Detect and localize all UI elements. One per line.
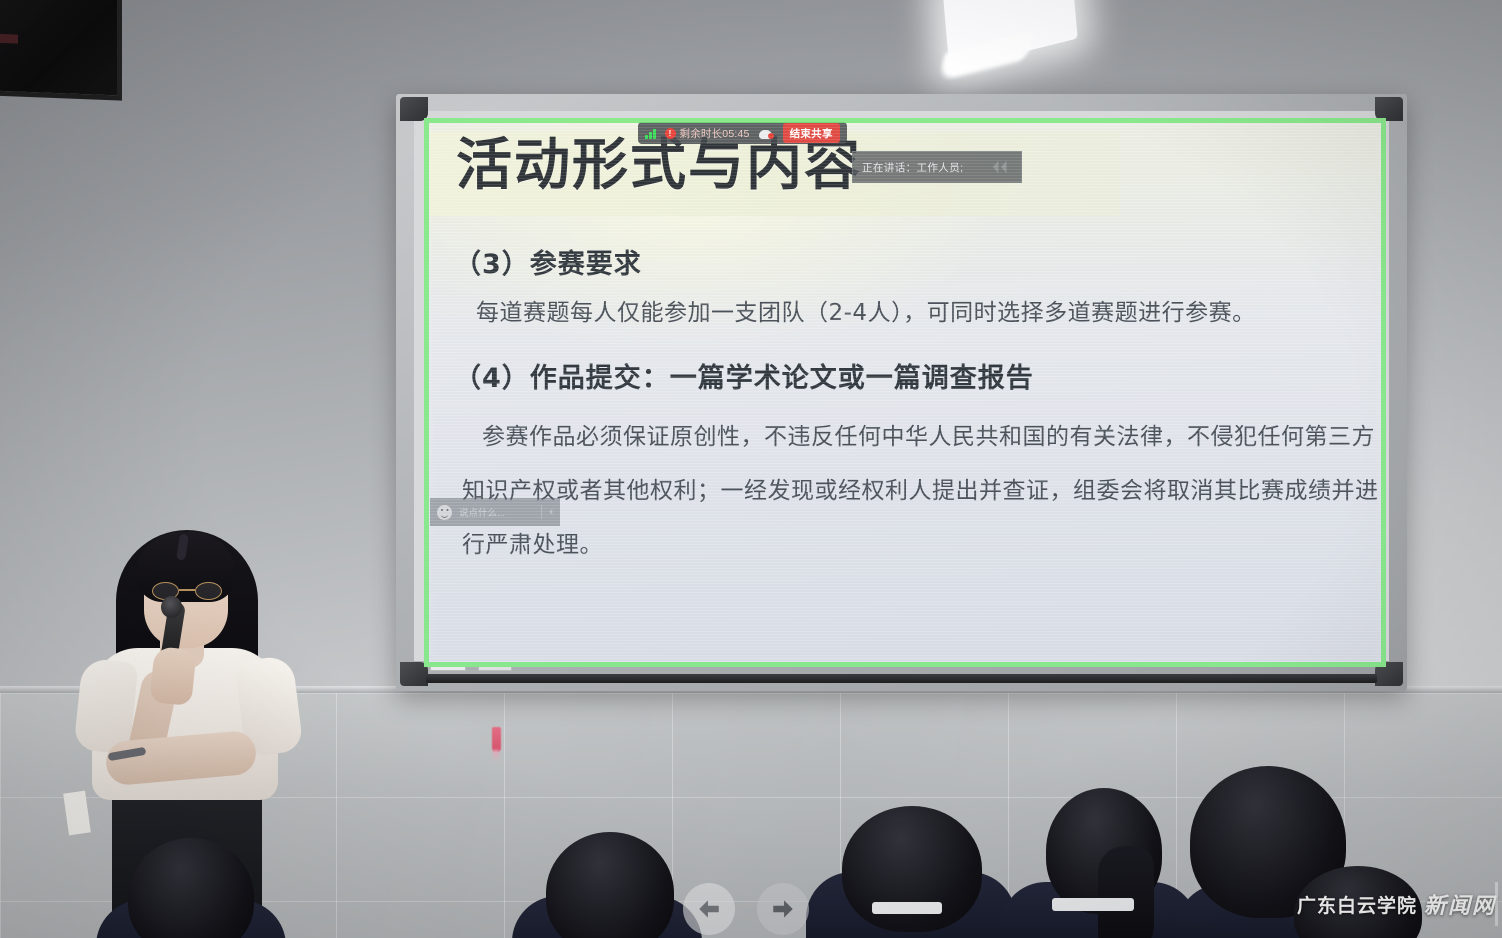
- remaining-time-group: ! 剩余时长05:45: [665, 126, 750, 141]
- chat-input-widget[interactable]: 说点什么... ‹: [430, 498, 560, 526]
- presenter-glasses: [152, 582, 222, 600]
- speaking-indicator: 正在讲话：工作人员;: [852, 151, 1022, 183]
- prev-button[interactable]: [683, 883, 735, 935]
- watermark: 广东白云学院 新闻网: [1297, 888, 1496, 920]
- speaking-indicator-label: 正在讲话：工作人员;: [862, 160, 963, 175]
- watermark-bar: [1495, 882, 1498, 926]
- audience-collar: [872, 902, 942, 914]
- chat-input-placeholder[interactable]: 说点什么...: [459, 505, 534, 519]
- meeting-logo-icon: [991, 158, 1013, 176]
- slide-heading-item3: （3）参赛要求: [454, 242, 642, 281]
- raise-hand-badge: [768, 133, 774, 139]
- info-icon: !: [665, 128, 676, 139]
- slide-paragraph-2-line2: 知识产权或者其他权利；一经发现或经权利人提出并查证，组委会将取消其比赛成绩并进: [462, 480, 1379, 503]
- red-marker: [492, 727, 501, 752]
- wall-panel-label: [0, 34, 18, 44]
- end-share-button[interactable]: 结束共享: [783, 123, 840, 143]
- classroom-scene: 活动形式与内容 （3）参赛要求 每道赛题每人仅能参加一支团队（2-4人），可同时…: [0, 0, 1502, 938]
- audience-collar: [1052, 898, 1134, 911]
- audience-ponytail: [1098, 846, 1154, 938]
- arrow-left-icon: [696, 896, 722, 922]
- signal-bars-icon: [645, 128, 656, 139]
- slide-paragraph-2-line3: 行严肃处理。: [462, 534, 603, 557]
- slide-paragraph-1: 每道赛题每人仅能参加一支团队（2-4人），可同时选择多道赛题进行参赛。: [476, 302, 1256, 325]
- raise-hand-icon[interactable]: [759, 127, 774, 139]
- presenter-paper: [63, 791, 91, 836]
- whiteboard-pen-tray: [426, 674, 1377, 683]
- watermark-outlet: 新闻网: [1424, 888, 1496, 920]
- red-marker-reflection: [493, 750, 499, 762]
- chevron-left-icon[interactable]: ‹: [549, 506, 553, 518]
- watermark-school: 广东白云学院: [1297, 891, 1417, 918]
- chat-divider: [541, 505, 542, 519]
- slide-paragraph-2-line1: 参赛作品必须保证原创性，不违反任何中华人民共和国的有关法律，不侵犯任何第三方: [482, 426, 1375, 449]
- emoji-smile-icon[interactable]: [437, 505, 452, 520]
- remaining-time-label: 剩余时长05:45: [680, 126, 750, 141]
- slide-title: 活动形式与内容: [456, 137, 862, 196]
- arrow-right-icon: [770, 896, 796, 922]
- wall-speaker-panel: [0, 0, 122, 101]
- next-button[interactable]: [757, 883, 809, 935]
- glasses-bridge: [179, 589, 195, 591]
- meeting-toolbar[interactable]: ! 剩余时长05:45 结束共享: [638, 122, 847, 144]
- glasses-lens-right: [195, 582, 222, 600]
- projected-slide-area: 活动形式与内容 （3）参赛要求 每道赛题每人仅能参加一支团队（2-4人），可同时…: [424, 118, 1386, 667]
- presenter-hand: [149, 646, 197, 706]
- slide-heading-item4: （4）作品提交：一篇学术论文或一篇调查报告: [454, 356, 1034, 395]
- slide-content: 活动形式与内容 （3）参赛要求 每道赛题每人仅能参加一支团队（2-4人），可同时…: [424, 118, 1386, 667]
